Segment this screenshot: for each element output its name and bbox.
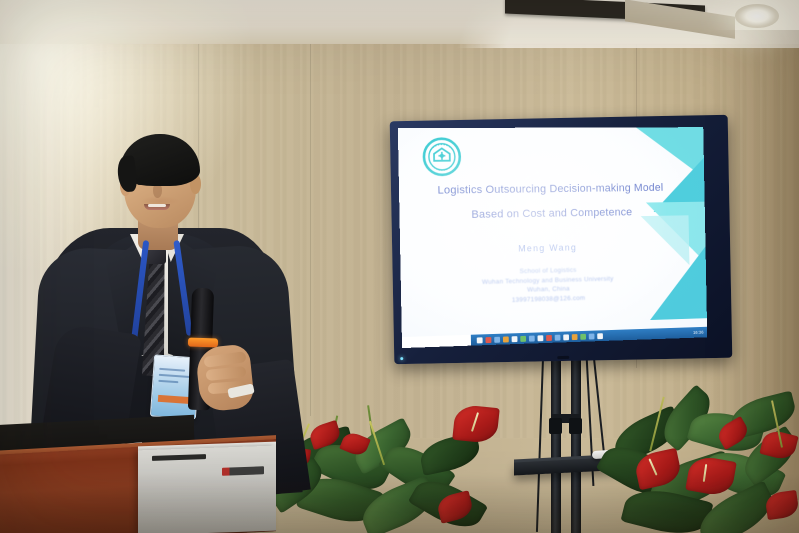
taskbar-icon[interactable] bbox=[512, 336, 518, 342]
taskbar-clock[interactable]: 16:36 bbox=[693, 330, 707, 335]
presentation-slide: Logistics Outsourcing Decision-making Mo… bbox=[398, 127, 707, 348]
taskbar-icon[interactable] bbox=[494, 336, 500, 342]
taskbar-icon[interactable] bbox=[537, 335, 543, 341]
ceiling-downlight bbox=[735, 4, 779, 28]
tv-stand-clamp bbox=[549, 418, 562, 434]
taskbar-icon[interactable] bbox=[520, 335, 526, 341]
badge-text-line bbox=[159, 368, 185, 372]
taskbar-icon[interactable] bbox=[503, 336, 509, 342]
taskbar-icon[interactable] bbox=[529, 335, 535, 341]
taskbar-icon[interactable] bbox=[555, 334, 561, 340]
flat-screen-tv: Logistics Outsourcing Decision-making Mo… bbox=[390, 115, 733, 364]
badge-text-line bbox=[159, 374, 191, 378]
tv-mount-bracket bbox=[557, 356, 569, 359]
badge-text-line bbox=[158, 380, 178, 383]
taskbar-icon[interactable] bbox=[589, 333, 595, 339]
university-seal-logo bbox=[422, 137, 462, 177]
wall-panel-seam bbox=[310, 6, 311, 416]
taskbar-icon[interactable] bbox=[580, 333, 586, 339]
taskbar-icon[interactable] bbox=[477, 337, 483, 343]
tv-stand-clamp bbox=[569, 418, 582, 434]
taskbar-icon[interactable] bbox=[597, 333, 603, 339]
nose bbox=[153, 184, 162, 198]
slide-affiliation: School of Logistics Wuhan Technology and… bbox=[401, 263, 691, 308]
taskbar-icon[interactable] bbox=[563, 334, 569, 340]
slide-title-line1: Logistics Outsourcing Decision-making Mo… bbox=[399, 179, 699, 200]
taskbar-icon[interactable] bbox=[485, 337, 491, 343]
teeth bbox=[148, 204, 166, 207]
floor-shadow bbox=[0, 473, 799, 533]
slide-title: Logistics Outsourcing Decision-making Mo… bbox=[399, 179, 700, 225]
microphone-indicator-band bbox=[188, 337, 218, 347]
tv-power-led bbox=[400, 357, 403, 360]
taskbar-icon[interactable] bbox=[572, 334, 578, 340]
tv-screen[interactable]: Logistics Outsourcing Decision-making Mo… bbox=[398, 127, 707, 348]
photo-scene: Logistics Outsourcing Decision-making Mo… bbox=[0, 0, 799, 533]
taskbar-icon[interactable] bbox=[546, 334, 552, 340]
